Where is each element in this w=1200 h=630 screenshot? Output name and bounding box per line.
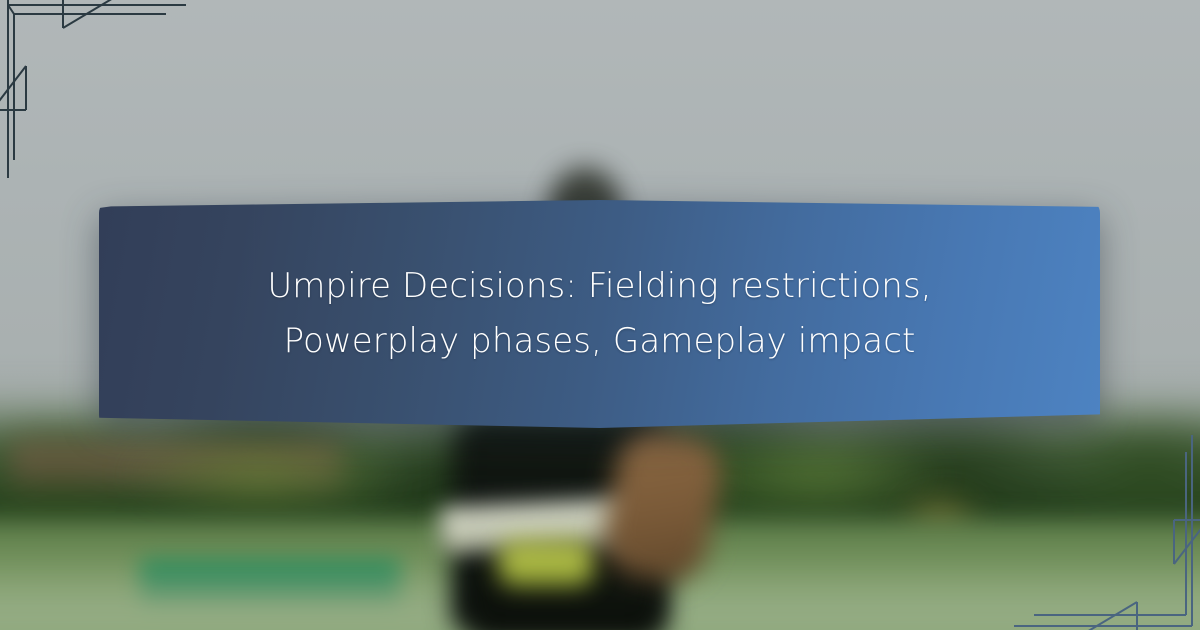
player-glove <box>498 540 594 586</box>
title-card: Umpire Decisions: Fielding restrictions,… <box>99 200 1100 428</box>
foliage-highlight-left <box>60 430 460 520</box>
page-title: Umpire Decisions: Fielding restrictions,… <box>267 259 931 369</box>
title-card-content: Umpire Decisions: Fielding restrictions,… <box>99 200 1100 428</box>
banner-stage: Umpire Decisions: Fielding restrictions,… <box>0 0 1200 630</box>
